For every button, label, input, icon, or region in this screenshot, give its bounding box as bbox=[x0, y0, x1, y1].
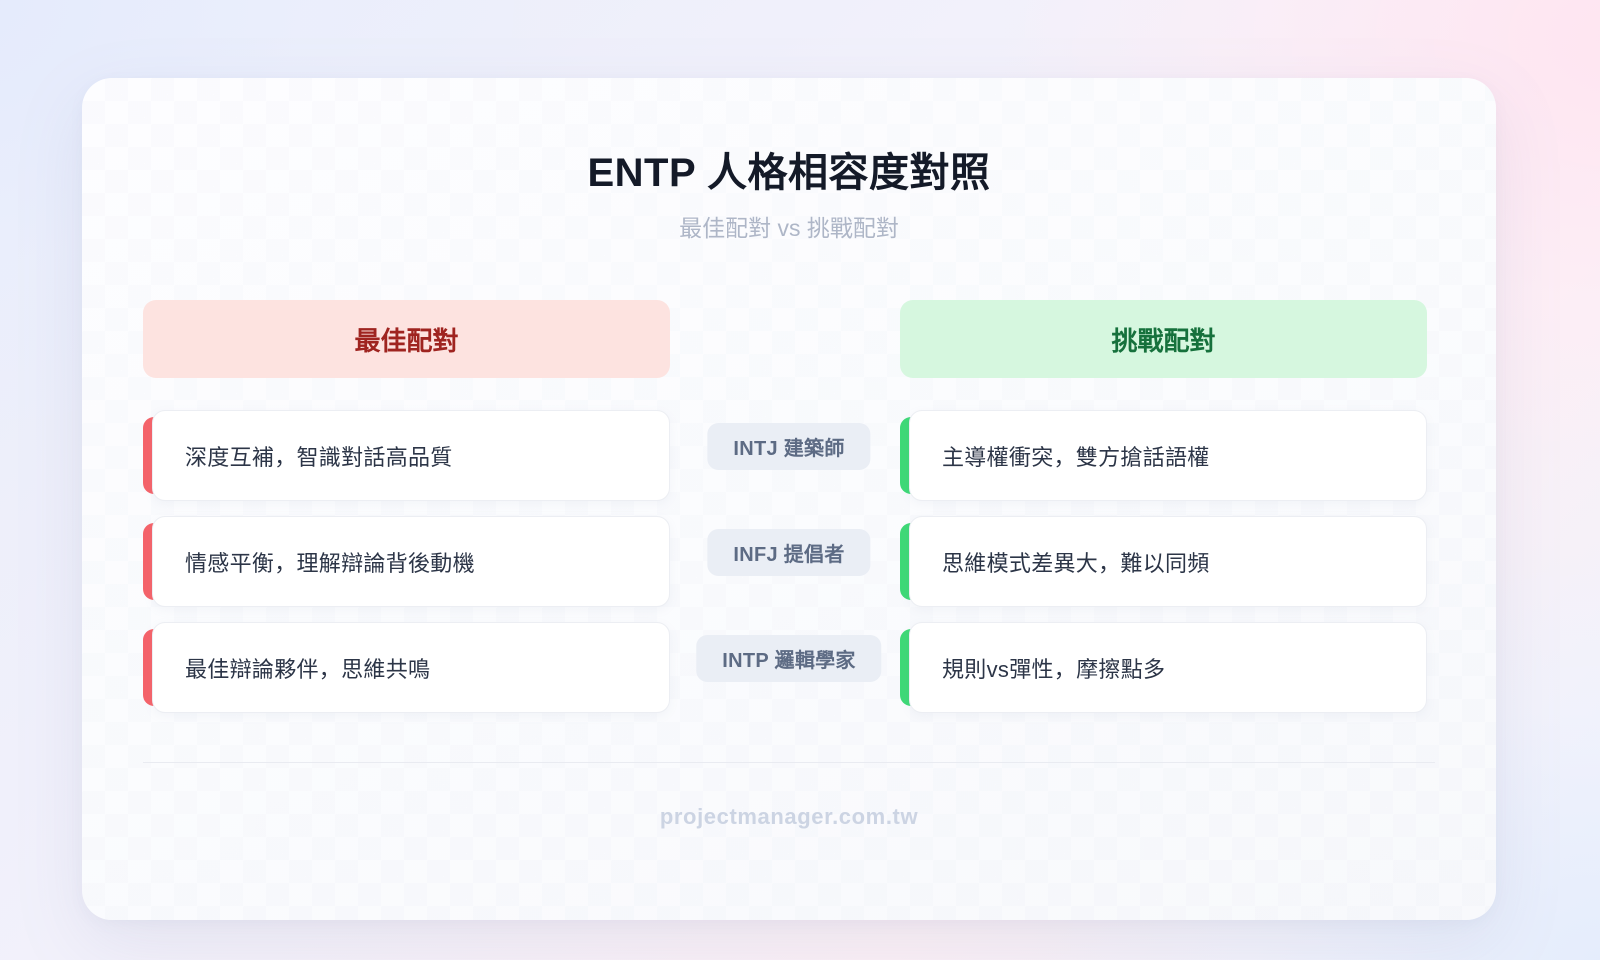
footer-divider bbox=[143, 762, 1435, 763]
best-match-text: 最佳辯論夥伴，思維共鳴 bbox=[185, 652, 430, 684]
mbti-type-pill: INFJ 提倡者 bbox=[707, 529, 870, 576]
best-match-card-body: 深度互補，智識對話高品質 bbox=[152, 410, 670, 501]
page-subtitle: 最佳配對 vs 挑戰配對 bbox=[82, 209, 1496, 243]
best-match-text: 情感平衡，理解辯論背後動機 bbox=[185, 546, 475, 578]
challenge-match-card: 規則vs彈性，摩擦點多 bbox=[900, 622, 1427, 713]
challenge-match-card: 思維模式差異大，難以同頻 bbox=[900, 516, 1427, 607]
challenge-match-card-body: 規則vs彈性，摩擦點多 bbox=[909, 622, 1427, 713]
best-match-card: 情感平衡，理解辯論背後動機 bbox=[143, 516, 670, 607]
best-match-text: 深度互補，智識對話高品質 bbox=[185, 440, 453, 472]
column-header-best-match: 最佳配對 bbox=[143, 300, 670, 378]
challenge-match-card-body: 思維模式差異大，難以同頻 bbox=[909, 516, 1427, 607]
mbti-type-pill: INTP 邏輯學家 bbox=[696, 635, 881, 682]
best-match-card-body: 情感平衡，理解辯論背後動機 bbox=[152, 516, 670, 607]
content-panel: ENTP 人格相容度對照 最佳配對 vs 挑戰配對 最佳配對 挑戰配對 深度互補… bbox=[82, 78, 1496, 920]
column-header-challenge-match: 挑戰配對 bbox=[900, 300, 1427, 378]
comparison-row: 深度互補，智識對話高品質 INTJ 建築師 主導權衝突，雙方搶話語權 bbox=[82, 410, 1496, 501]
comparison-row: 最佳辯論夥伴，思維共鳴 INTP 邏輯學家 規則vs彈性，摩擦點多 bbox=[82, 622, 1496, 713]
challenge-match-text: 思維模式差異大，難以同頻 bbox=[942, 546, 1210, 578]
challenge-match-card-body: 主導權衝突，雙方搶話語權 bbox=[909, 410, 1427, 501]
footer-site-label: projectmanager.com.tw bbox=[82, 804, 1496, 830]
comparison-row: 情感平衡，理解辯論背後動機 INFJ 提倡者 思維模式差異大，難以同頻 bbox=[82, 516, 1496, 607]
mbti-type-pill: INTJ 建築師 bbox=[707, 423, 870, 470]
challenge-match-text: 規則vs彈性，摩擦點多 bbox=[942, 652, 1165, 684]
page-title: ENTP 人格相容度對照 bbox=[82, 140, 1496, 198]
challenge-match-text: 主導權衝突，雙方搶話語權 bbox=[942, 440, 1210, 472]
best-match-card: 深度互補，智識對話高品質 bbox=[143, 410, 670, 501]
best-match-card-body: 最佳辯論夥伴，思維共鳴 bbox=[152, 622, 670, 713]
challenge-match-card: 主導權衝突，雙方搶話語權 bbox=[900, 410, 1427, 501]
best-match-card: 最佳辯論夥伴，思維共鳴 bbox=[143, 622, 670, 713]
